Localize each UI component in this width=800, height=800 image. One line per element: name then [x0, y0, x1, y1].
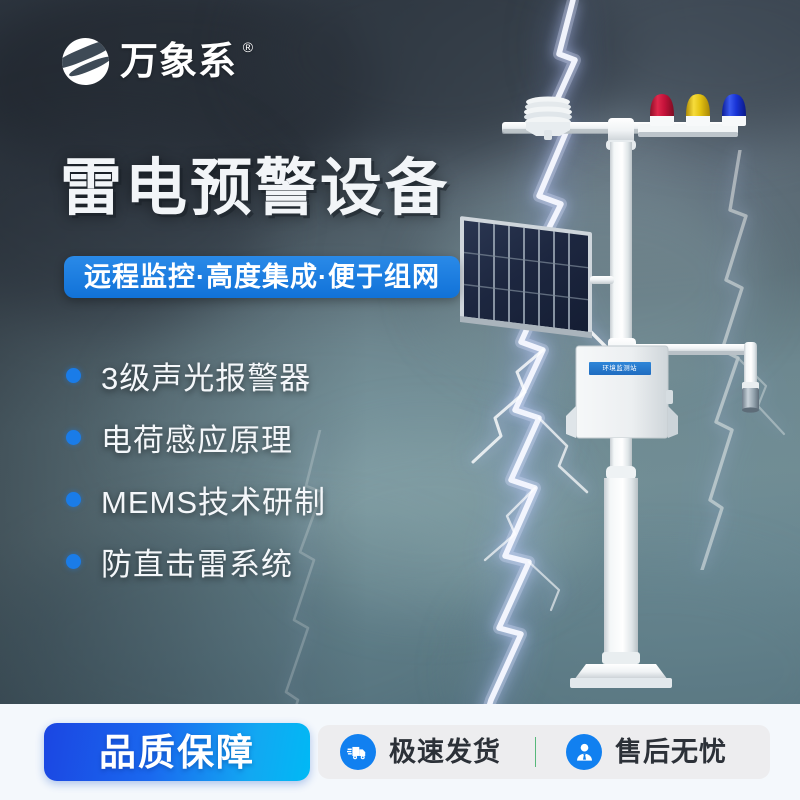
customer-service-person-icon	[566, 734, 602, 770]
subtitle-banner: 远程监控·高度集成·便于组网	[64, 256, 460, 298]
feature-label: 3级声光报警器	[101, 353, 311, 398]
brand-logo: 万象系®	[62, 38, 237, 85]
enclosure-label-badge: 环境监测站	[589, 362, 651, 375]
feature-label: 电荷感应原理	[101, 415, 293, 460]
service-item-shipping: 极速发货	[340, 734, 501, 770]
registered-mark: ®	[243, 40, 254, 54]
feature-list: 3级声光报警器 电荷感应原理 MEMS技术研制 防直击雷系统	[66, 344, 446, 592]
enclosure-label-text: 环境监测站	[603, 365, 638, 371]
feature-label: MEMS技术研制	[101, 477, 326, 522]
swoosh-sphere-logo-icon	[60, 36, 112, 88]
brand-name: 万象系®	[120, 43, 237, 81]
list-item: 电荷感应原理	[66, 406, 446, 468]
service-bar: 极速发货 售后无忧	[318, 725, 770, 779]
footer-bar: 品质保障 极速发货	[0, 704, 800, 800]
bullet-dot-icon	[66, 430, 81, 445]
subtitle-text: 远程监控·高度集成·便于组网	[84, 264, 440, 291]
list-item: MEMS技术研制	[66, 468, 446, 530]
delivery-truck-icon	[340, 734, 376, 770]
quality-badge: 品质保障	[44, 723, 310, 781]
service-item-aftersales: 售后无忧	[566, 734, 727, 770]
service-divider	[535, 737, 536, 767]
list-item: 防直击雷系统	[66, 530, 446, 592]
page-title: 雷电预警设备	[60, 158, 450, 220]
list-item: 3级声光报警器	[66, 344, 446, 406]
bullet-dot-icon	[66, 368, 81, 383]
quality-badge-label: 品质保障	[99, 734, 255, 771]
bullet-dot-icon	[66, 492, 81, 507]
feature-label: 防直击雷系统	[101, 539, 293, 584]
service-label: 售后无忧	[615, 739, 727, 766]
bullet-dot-icon	[66, 554, 81, 569]
service-label: 极速发货	[389, 739, 501, 766]
brand-name-text: 万象系	[120, 41, 237, 83]
lightning-warning-device-illustration	[440, 80, 800, 700]
product-poster: 环境监测站 万象系® 雷电预警设备 远程监控·高度集成·便于组网 3级声光报警器…	[0, 0, 800, 800]
